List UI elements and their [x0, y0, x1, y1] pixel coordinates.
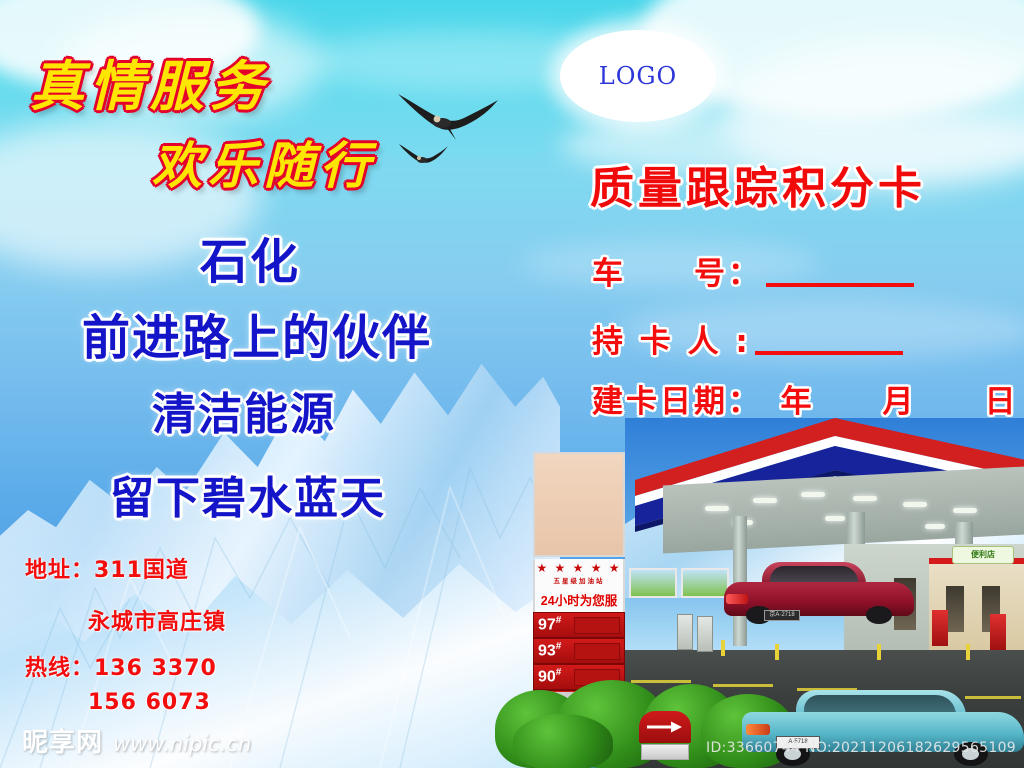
ceiling-light [853, 496, 877, 501]
watermark: 昵享网 www.nipic.cn [22, 722, 251, 759]
star-caption: 五星级加油站 [535, 575, 623, 585]
fuel-pump [990, 614, 1006, 650]
bollard [877, 644, 881, 660]
field-cardholder[interactable]: 持 卡 人 : [592, 316, 903, 361]
address-line-1: 地址：311国道 [25, 552, 189, 584]
card-title: 质量跟踪积分卡 [590, 152, 926, 216]
price-sign-star-block: ★ ★ ★ ★ ★ 五星级加油站 [533, 559, 625, 591]
brand-line-3: 清洁能源 [152, 378, 336, 442]
hotline-line-1: 热线：136 3370 [25, 650, 217, 682]
fuel-pump [677, 614, 693, 650]
field-vehicle-number-line[interactable] [766, 283, 914, 287]
field-vehicle-number[interactable]: 车 号： [592, 248, 914, 293]
price-row: 97# [533, 612, 625, 638]
red-car-wheel [866, 606, 892, 624]
field-issue-date[interactable]: 建卡日期： 年 月 日 [592, 376, 1019, 421]
fuel-price-box [574, 643, 620, 660]
address-line-2: 永城市高庄镇 [88, 604, 226, 636]
fuel-price-box [574, 617, 620, 634]
ceiling-light [925, 524, 945, 529]
hotline-line-2: 156 6073 [88, 690, 211, 715]
bollard [775, 644, 779, 660]
five-star-icons: ★ ★ ★ ★ ★ [535, 559, 623, 575]
ceiling-light [903, 502, 927, 507]
field-cardholder-label: 持 卡 人 : [592, 316, 751, 361]
teal-car: A·5718 [742, 690, 1024, 768]
teal-car-taillight [746, 724, 770, 735]
station-billboard [629, 568, 677, 598]
watermark-url: www.nipic.cn [113, 732, 251, 756]
direction-arrow-sign [639, 711, 691, 763]
fuel-grade: 97# [538, 615, 574, 634]
logo-placeholder: LOGO [560, 30, 716, 122]
brand-line-4: 留下碧水蓝天 [110, 462, 386, 526]
brand-line-2: 前进路上的伙伴 [82, 298, 432, 368]
watermark-brand: 昵享网 [22, 722, 103, 759]
bollard [721, 640, 725, 656]
field-cardholder-line[interactable] [755, 351, 903, 355]
eagle-small-icon [396, 140, 450, 170]
slogan-line-2: 欢乐随行 [152, 126, 376, 198]
ceiling-light [953, 508, 977, 513]
field-vehicle-number-label: 车 号： [592, 248, 762, 293]
arrow-sign-base [641, 744, 689, 760]
right-arrow-icon [647, 721, 683, 733]
ceiling-light [801, 492, 825, 497]
slogan-line-1: 真情服务 [30, 42, 270, 121]
fuel-pump [932, 610, 948, 646]
ceiling-light [753, 498, 777, 503]
price-sign-blank-panel [533, 452, 625, 557]
store-window [946, 586, 964, 632]
ceiling-light [705, 506, 729, 511]
poster-canvas: 真情服务 欢乐随行 石化 前进路上的伙伴 清洁能源 留下碧水蓝天 地址：311国… [0, 0, 1024, 768]
fuel-grade: 93# [538, 641, 574, 660]
bollard [966, 644, 970, 660]
store-logo-sign: 便利店 [952, 546, 1014, 564]
fuel-pump [697, 616, 713, 652]
red-car-license-plate: 京A·2718 [764, 610, 800, 621]
image-id-line: ID:33660744 NO:20211206182629565109 [706, 740, 1016, 756]
price-row: 93# [533, 638, 625, 664]
fuel-price-sign: ★ ★ ★ ★ ★ 五星级加油站 24小时为您服务 97# 93# 90# 0# [533, 452, 625, 692]
brand-line-1: 石化 [200, 222, 300, 292]
bush [513, 714, 613, 768]
eagle-large-icon [392, 88, 502, 146]
ceiling-light [825, 516, 845, 521]
field-issue-date-label: 建卡日期： 年 月 日 [592, 376, 1019, 421]
service-hours-text: 24小时为您服务 [533, 591, 625, 612]
station-billboard [681, 568, 729, 598]
red-car: 京A·2718 [724, 560, 914, 626]
logo-text: LOGO [599, 62, 677, 90]
red-car-taillight [726, 594, 748, 604]
